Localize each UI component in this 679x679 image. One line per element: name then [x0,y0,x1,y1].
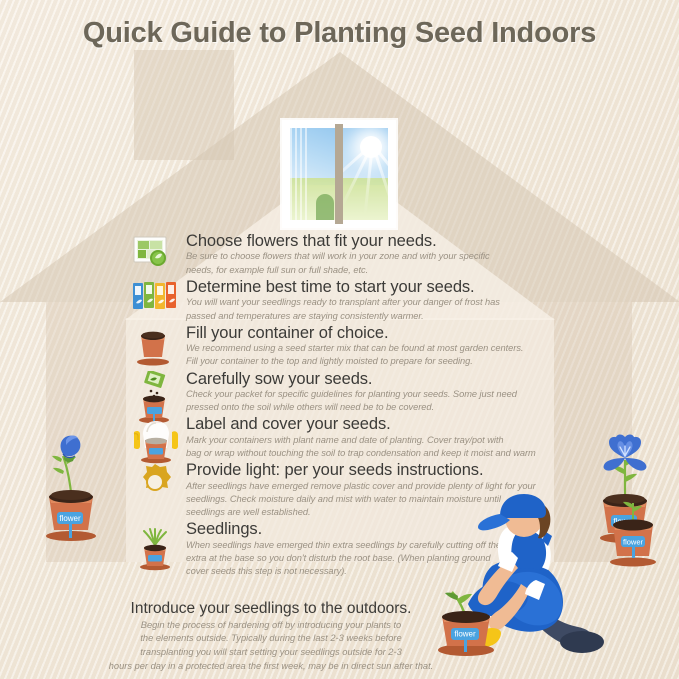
step-body: Check your packet for specific guideline… [186,388,549,414]
seed-packets-icon [131,279,181,321]
step-body-line: passed and temperatures are staying cons… [186,310,549,323]
outro-body-line: transplanting you will start setting you… [96,646,446,660]
step-body-line: You will want your seedlings ready to tr… [186,296,549,309]
window-mullion [335,124,343,224]
plant-label-text: flower [59,514,81,523]
outro-heading: Introduce your seedlings to the outdoors… [96,600,446,618]
step-heading: Carefully sow your seeds. [186,370,549,388]
step-body-line: bag or wrap without touching the soil to… [186,447,549,460]
filled-pot-icon [131,325,181,367]
potted-blue-bud-flower-icon: flower [33,418,109,547]
seedling-pot-icon [131,521,181,563]
step-heading: Determine best time to start your seeds. [186,278,549,296]
step-heading: Fill your container of choice. [186,324,549,342]
step-body: Mark your containers with plant name and… [186,434,549,460]
covered-pot-gloves-icon [131,416,181,458]
infographic-poster: Quick Guide to Planting Seed Indoors Cho… [0,0,679,679]
step-item: Carefully sow your seeds. Check your pac… [131,370,549,415]
outro-body-line: hours per day in a protected area the fi… [96,660,446,674]
window-pane-right [342,128,388,220]
page-title: Quick Guide to Planting Seed Indoors [0,17,679,50]
step-heading: Choose flowers that fit your needs. [186,232,549,250]
outro-block: Introduce your seedlings to the outdoors… [96,600,446,673]
step-body-line: needs, for example full sun or full shad… [186,264,549,277]
window-pane-left [290,128,336,220]
light-ring-icon [131,462,181,504]
sun-icon [360,136,382,158]
blue-cap-icon [500,494,546,518]
step-body-line: Be sure to choose flowers that will work… [186,250,549,263]
step-item: Label and cover your seeds. Mark your co… [131,415,549,460]
step-item: Determine best time to start your seeds.… [131,278,549,323]
blind-shape [290,128,309,220]
step-item: Fill your container of choice. We recomm… [131,324,549,369]
step-heading: Label and cover your seeds. [186,415,549,433]
step-body-line: We recommend using a seed starter mix th… [186,342,549,355]
window-with-sun-icon [282,120,396,228]
step-body-line: Check your packet for specific guideline… [186,388,549,401]
bush-shape [316,194,334,220]
kneeling-gardener-icon: flower [432,494,652,679]
step-body: Be sure to choose flowers that will work… [186,250,549,276]
seed-catalog-icon [131,233,181,275]
step-body: We recommend using a seed starter mix th… [186,342,549,368]
step-item: Choose flowers that fit your needs. Be s… [131,232,549,277]
outro-body-line: the elements outside. Typically during t… [96,632,446,646]
step-body: You will want your seedlings ready to tr… [186,296,549,322]
outro-body-line: Begin the process of hardening off by in… [96,619,446,633]
plant-label-text: flower [454,630,476,639]
step-body-line: pressed onto the soil while others will … [186,401,549,414]
sowing-seeds-icon [131,371,181,413]
step-body-line: After seedlings have emerged remove plas… [186,480,549,493]
step-body-line: Fill your container to the top and light… [186,355,549,368]
step-body-line: Mark your containers with plant name and… [186,434,549,447]
outro-body: Begin the process of hardening off by in… [96,619,446,673]
step-heading: Provide light: per your seeds instructio… [186,461,549,479]
